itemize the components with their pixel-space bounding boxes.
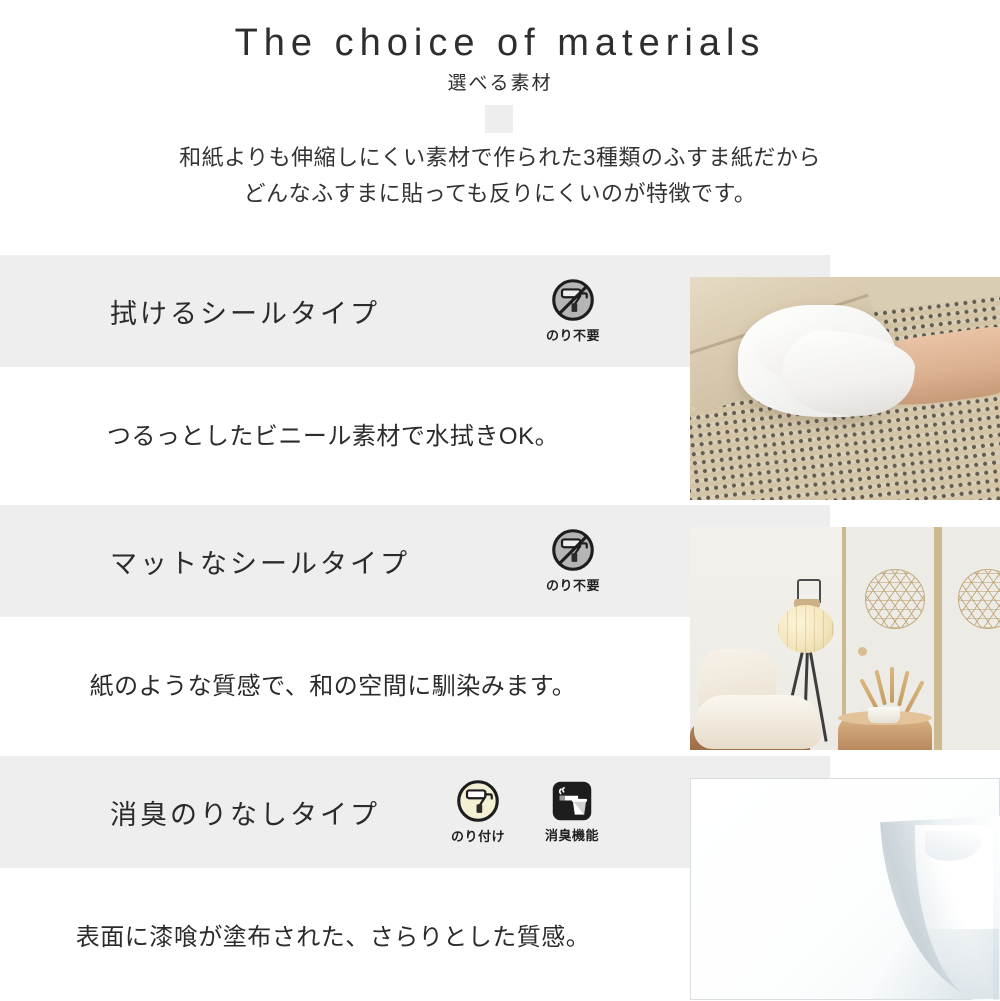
badge-glue: のり付け xyxy=(440,779,516,845)
photo-fusuma-panel-2 xyxy=(938,527,1000,750)
page-lead-line-1: 和紙よりも伸縮しにくい素材で作られた3種類のふすま紙だから xyxy=(0,140,1000,176)
section-3-badges: のり付け 消臭機能 xyxy=(440,756,610,868)
page-title-en: The choice of materials xyxy=(0,22,1000,65)
badge-deodorize-label: 消臭機能 xyxy=(545,825,599,844)
section-1-badges: のり不要 xyxy=(535,255,611,367)
section-3-caption-text: 表面に漆喰が塗布された、さらりとした質感。 xyxy=(76,917,591,952)
section-2-photo xyxy=(690,527,1000,750)
photo-chair-seat xyxy=(694,695,822,749)
photo-pampas-3 xyxy=(890,667,894,703)
page-lead-line-2: どんなふすまに貼っても反りにくいのが特徴です。 xyxy=(0,176,1000,212)
section-1-caption: つるっとしたビニール素材で水拭きOK。 xyxy=(0,367,690,500)
section-1-title: 拭けるシールタイプ xyxy=(110,255,380,367)
section-2-caption-text: 紙のような質感で、和の空間に馴染みます。 xyxy=(90,666,577,701)
badge-no-glue: のり不要 xyxy=(535,528,611,594)
page-lead-text: 和紙よりも伸縮しにくい素材で作られた3種類のふすま紙だから どんなふすまに貼って… xyxy=(0,140,1000,212)
section-2-title: マットなシールタイプ xyxy=(110,505,410,617)
photo-wall-knob xyxy=(858,647,867,656)
glue-roller-icon xyxy=(456,779,500,823)
photo-sheet-frame xyxy=(690,778,1000,1000)
badge-glue-label: のり付け xyxy=(451,826,505,845)
badge-no-glue-label: のり不要 xyxy=(546,325,600,344)
section-3-caption: 表面に漆喰が塗布された、さらりとした質感。 xyxy=(0,868,690,1001)
title-divider-square xyxy=(485,105,513,133)
photo-paper-lantern xyxy=(778,605,834,653)
badge-no-glue: のり不要 xyxy=(535,278,611,344)
page-title-ja: 選べる素材 xyxy=(0,68,1000,95)
material-section-3: 消臭のりなしタイプ のり付け 消臭機能 xyxy=(0,756,1000,1000)
material-section-2: マットなシールタイプ のり不要 紙のような質感で、和の空間に馴染みます。 xyxy=(0,505,1000,750)
photo-plant-pot xyxy=(868,707,900,723)
deodorize-icon xyxy=(551,780,593,822)
section-1-photo xyxy=(690,277,1000,500)
badge-no-glue-label: のり不要 xyxy=(546,575,600,594)
section-3-title: 消臭のりなしタイプ xyxy=(110,756,380,868)
page-header: The choice of materials 選べる素材 和紙よりも伸縮しにく… xyxy=(0,0,1000,255)
no-glue-roller-icon xyxy=(551,278,595,322)
section-2-badges: のり不要 xyxy=(535,505,611,617)
section-2-caption: 紙のような質感で、和の空間に馴染みます。 xyxy=(0,617,690,750)
photo-lattice-circle-1 xyxy=(865,569,925,629)
badge-deodorize: 消臭機能 xyxy=(534,780,610,844)
material-section-1: 拭けるシールタイプ のり不要 つるっとしたビニール素材で水拭きOK。 xyxy=(0,255,1000,500)
section-3-photo xyxy=(690,778,1000,1000)
photo-sheet-shadow xyxy=(849,929,999,999)
section-1-caption-text: つるっとしたビニール素材で水拭きOK。 xyxy=(107,416,559,451)
no-glue-roller-icon xyxy=(551,528,595,572)
